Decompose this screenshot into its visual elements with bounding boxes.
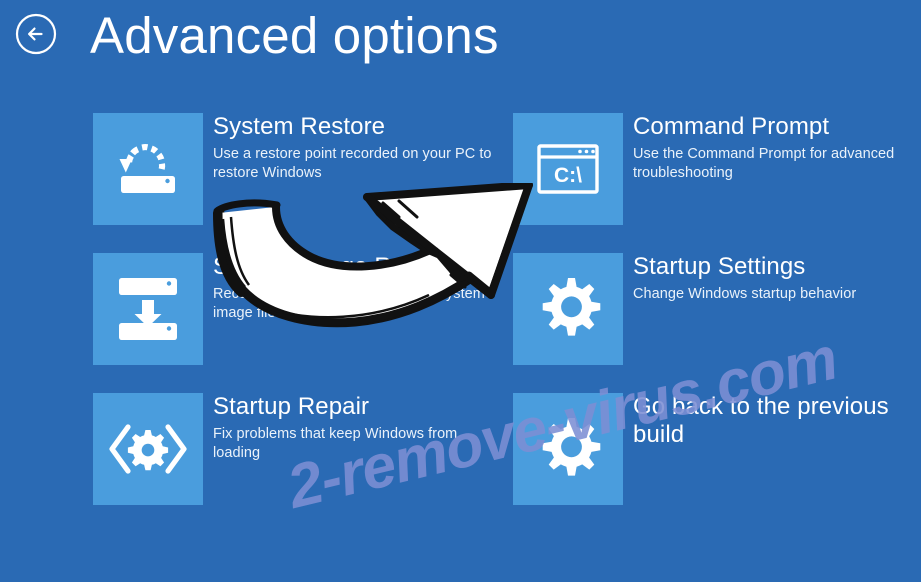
tile-icon-wrapper: C:\ bbox=[513, 113, 623, 225]
tile-row: System Restore Use a restore point recor… bbox=[0, 113, 921, 225]
tile-system-image-recovery[interactable]: System Image Recovery Recover Windows us… bbox=[93, 253, 493, 365]
tile-icon-wrapper bbox=[513, 393, 623, 505]
tile-system-restore[interactable]: System Restore Use a restore point recor… bbox=[93, 113, 493, 225]
gear-icon bbox=[535, 416, 601, 482]
startup-repair-icon bbox=[106, 421, 190, 477]
tile-title: System Image Recovery bbox=[213, 253, 493, 281]
tile-text: Startup Repair Fix problems that keep Wi… bbox=[213, 393, 493, 505]
tile-text: Startup Settings Change Windows startup … bbox=[633, 253, 913, 365]
system-restore-icon bbox=[113, 138, 183, 200]
tile-title: Go back to the previous build bbox=[633, 393, 913, 449]
tile-description: Use a restore point recorded on your PC … bbox=[213, 145, 493, 183]
tile-text: System Image Recovery Recover Windows us… bbox=[213, 253, 493, 365]
tile-icon-wrapper bbox=[93, 113, 203, 225]
tile-title: Startup Settings bbox=[633, 253, 913, 281]
advanced-options-screen: Advanced options bbox=[0, 0, 921, 582]
tile-icon-wrapper bbox=[93, 393, 203, 505]
tile-description: Change Windows startup behavior bbox=[633, 285, 913, 304]
tile-description: Use the Command Prompt for advanced trou… bbox=[633, 145, 913, 183]
tile-description: Fix problems that keep Windows from load… bbox=[213, 425, 493, 463]
svg-text:C:\: C:\ bbox=[554, 164, 582, 187]
system-image-recovery-icon bbox=[117, 276, 179, 342]
tile-row: System Image Recovery Recover Windows us… bbox=[0, 253, 921, 365]
tile-title: Command Prompt bbox=[633, 113, 913, 141]
tile-title: Startup Repair bbox=[213, 393, 493, 421]
tile-icon-wrapper bbox=[513, 253, 623, 365]
tile-startup-repair[interactable]: Startup Repair Fix problems that keep Wi… bbox=[93, 393, 493, 505]
tile-icon-wrapper bbox=[93, 253, 203, 365]
options-grid: System Restore Use a restore point recor… bbox=[0, 0, 921, 582]
tile-startup-settings[interactable]: Startup Settings Change Windows startup … bbox=[513, 253, 913, 365]
gear-icon bbox=[535, 276, 601, 342]
tile-text: Go back to the previous build bbox=[633, 393, 913, 505]
command-prompt-icon: C:\ bbox=[535, 140, 601, 198]
tile-command-prompt[interactable]: C:\ Command Prompt Use the Command Promp… bbox=[513, 113, 913, 225]
tile-text: System Restore Use a restore point recor… bbox=[213, 113, 493, 225]
tile-go-back-previous-build[interactable]: Go back to the previous build bbox=[513, 393, 913, 505]
tile-row: Startup Repair Fix problems that keep Wi… bbox=[0, 393, 921, 505]
tile-title: System Restore bbox=[213, 113, 493, 141]
tile-description: Recover Windows using a specific system … bbox=[213, 285, 493, 323]
tile-text: Command Prompt Use the Command Prompt fo… bbox=[633, 113, 913, 225]
